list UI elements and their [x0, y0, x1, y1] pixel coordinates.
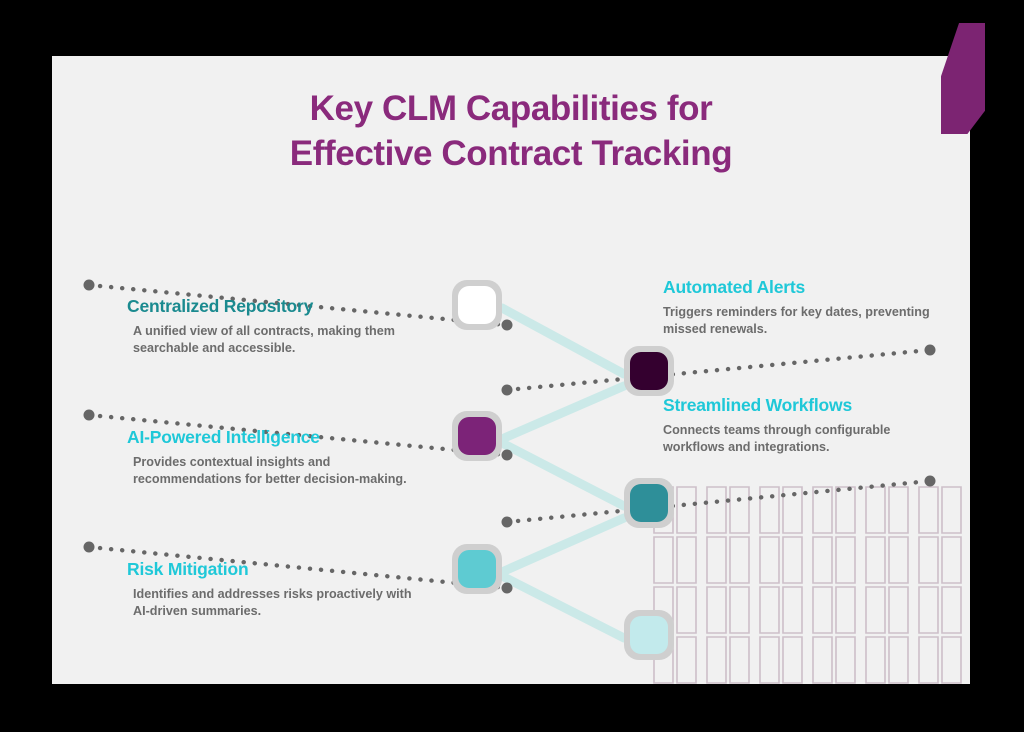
node-teal-fill [630, 484, 668, 522]
node-light-cyan[interactable] [624, 610, 674, 660]
node-cyan-fill [458, 550, 496, 588]
feature-body: Identifies and addresses risks proactive… [133, 586, 417, 621]
feature-automated-alerts: Automated Alerts Triggers reminders for … [663, 277, 953, 339]
infographic-canvas: Key CLM Capabilities for Effective Contr… [0, 0, 1024, 732]
feature-body: A unified view of all contracts, making … [133, 323, 417, 358]
infographic-card: Key CLM Capabilities for Effective Contr… [52, 56, 970, 684]
node-white-fill [458, 286, 496, 324]
feature-heading: Streamlined Workflows [663, 395, 923, 416]
node-dark-purple[interactable] [624, 346, 674, 396]
feature-streamlined-workflows: Streamlined Workflows Connects teams thr… [663, 395, 923, 457]
node-dark-purple-fill [630, 352, 668, 390]
feature-body: Triggers reminders for key dates, preven… [663, 304, 953, 339]
feature-heading: Automated Alerts [663, 277, 953, 298]
node-cyan[interactable] [452, 544, 502, 594]
feature-ai-powered-intelligence: AI-Powered Intelligence Provides context… [87, 427, 427, 489]
feature-centralized-repository: Centralized Repository A unified view of… [87, 296, 417, 358]
node-light-cyan-fill [630, 616, 668, 654]
feature-heading: Risk Mitigation [127, 559, 417, 580]
feature-heading: Centralized Repository [127, 296, 417, 317]
chip-connectors [502, 308, 624, 638]
node-purple[interactable] [452, 411, 502, 461]
node-white[interactable] [452, 280, 502, 330]
node-teal[interactable] [624, 478, 674, 528]
feature-risk-mitigation: Risk Mitigation Identifies and addresses… [87, 559, 417, 621]
node-purple-fill [458, 417, 496, 455]
corner-wedge-decoration [941, 23, 985, 134]
feature-body: Connects teams through configurable work… [663, 422, 923, 457]
feature-body: Provides contextual insights and recomme… [133, 454, 427, 489]
feature-heading: AI-Powered Intelligence [127, 427, 427, 448]
